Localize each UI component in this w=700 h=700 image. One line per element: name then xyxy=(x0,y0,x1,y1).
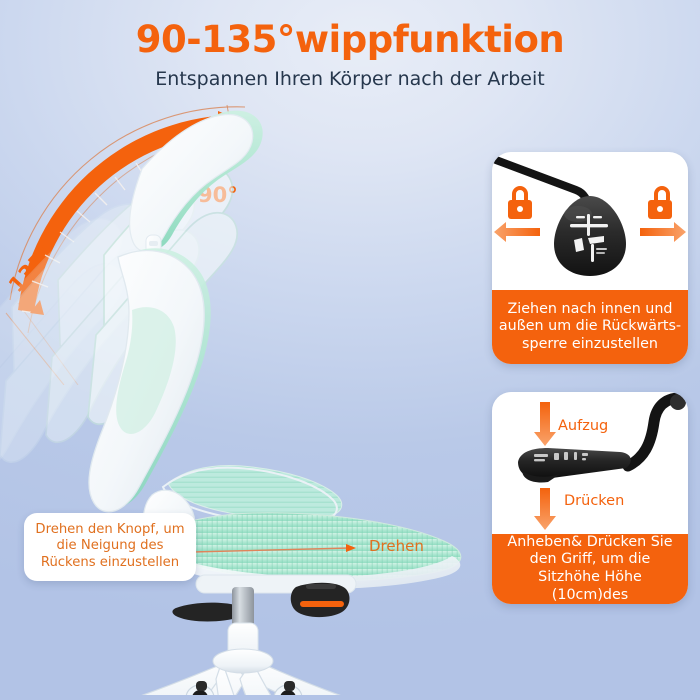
office-chair-illustration xyxy=(0,95,480,695)
push-label: Drücken xyxy=(564,493,624,509)
lock-open-icon xyxy=(648,186,672,219)
card-backrest-lock-caption: Ziehen nach innen und außen um die Rückw… xyxy=(492,290,688,364)
tilt-tension-knob xyxy=(291,583,350,617)
page-title: 90-135°wippfunktion xyxy=(0,18,700,61)
lock-knob-diagram xyxy=(492,152,688,290)
card-seat-height-caption: Anheben& Drücken Sie den Griff, um die S… xyxy=(492,534,688,604)
arrow-left-icon xyxy=(494,222,540,242)
card-seat-height: Aufzug Drücken Anheben& Drücken Sie den … xyxy=(492,392,688,604)
drehen-pointer-label: Drehen xyxy=(369,537,424,555)
arrow-down-icon xyxy=(534,488,556,530)
arrow-up-icon xyxy=(534,402,556,446)
card-seat-height-figure: Aufzug Drücken xyxy=(492,392,688,534)
card-backrest-lock: Ziehen nach innen und außen um die Rückw… xyxy=(492,152,688,364)
card-backrest-lock-figure xyxy=(492,152,688,290)
chair-svg xyxy=(0,95,480,695)
infographic-canvas: 90-135°wippfunktion Entspannen Ihren Kör… xyxy=(0,0,700,700)
arrow-right-icon xyxy=(640,222,686,242)
tilt-lock-knob xyxy=(554,196,626,276)
lift-label: Aufzug xyxy=(558,418,608,434)
chair-base xyxy=(105,649,381,695)
callout-tilt-knob: Drehen den Knopf, um die Neigung des Rüc… xyxy=(24,513,196,581)
height-lever-diagram xyxy=(492,392,688,534)
lock-closed-icon xyxy=(508,186,532,219)
